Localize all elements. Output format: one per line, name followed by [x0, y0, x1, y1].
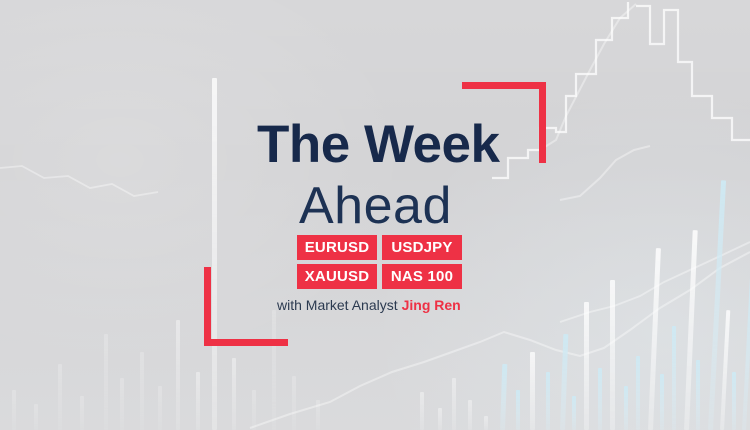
instrument-badge-xauusd[interactable]: XAUUSD	[297, 264, 377, 289]
instrument-badge-nas100[interactable]: NAS 100	[382, 264, 462, 289]
instrument-badge-eurusd[interactable]: EURUSD	[297, 235, 377, 260]
byline: with Market AnalystJing Ren	[277, 297, 461, 313]
page-title-line-1: The Week	[257, 118, 499, 171]
badge-row-2: XAUUSD NAS 100	[297, 264, 462, 289]
week-ahead-banner: The Week Ahead EURUSD USDJPY XAUUSD NAS …	[0, 0, 750, 430]
instrument-badge-group: EURUSD USDJPY XAUUSD NAS 100	[297, 235, 462, 293]
badge-row-1: EURUSD USDJPY	[297, 235, 462, 260]
banner-content: The Week Ahead EURUSD USDJPY XAUUSD NAS …	[0, 0, 750, 430]
analyst-name: Jing Ren	[402, 297, 461, 313]
instrument-badge-usdjpy[interactable]: USDJPY	[382, 235, 462, 260]
byline-prefix: with Market Analyst	[277, 297, 398, 313]
page-title-line-2: Ahead	[299, 180, 452, 232]
